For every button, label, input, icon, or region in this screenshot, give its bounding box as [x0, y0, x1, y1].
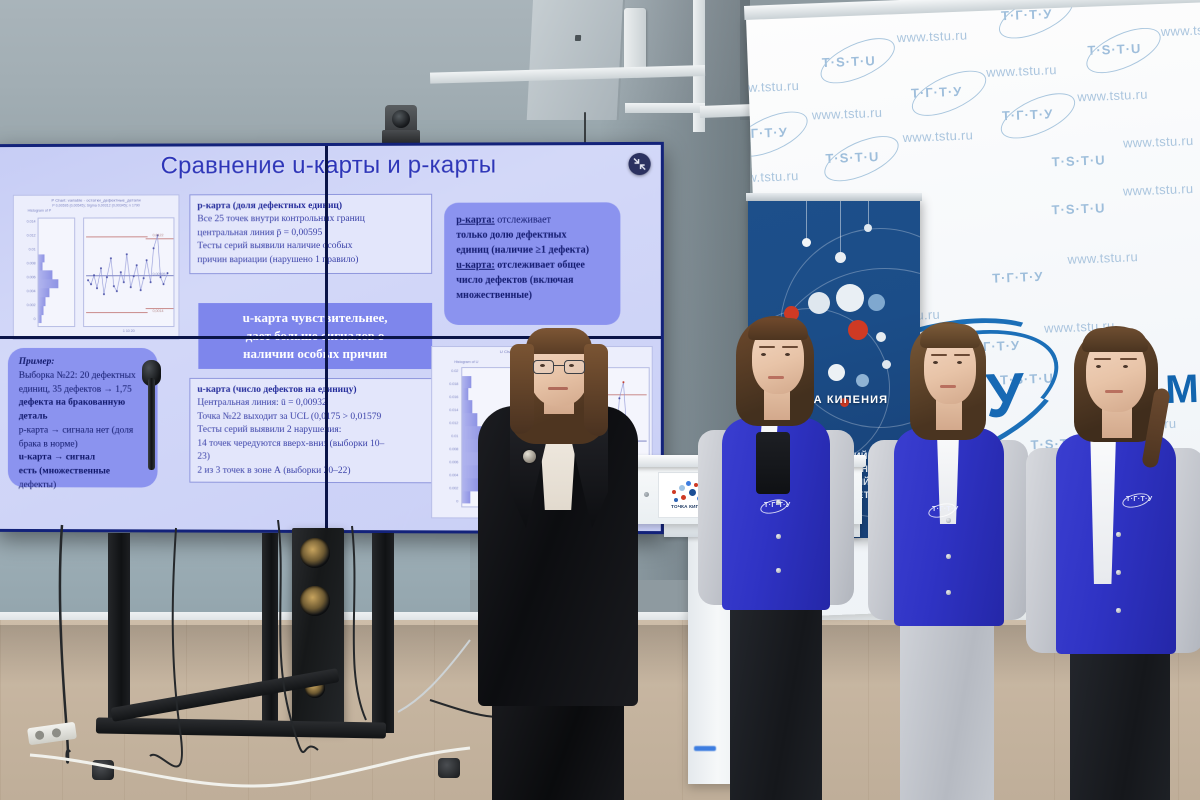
p-y-tick: 0.004	[14, 289, 36, 293]
p-y-tick: 0.008	[14, 261, 36, 265]
watermark-url: www.tstu.ru	[746, 168, 799, 186]
bubble	[864, 224, 872, 232]
student-3-mouth	[1105, 390, 1123, 393]
p-chart-textbox-line: Тесты серий выявили наличие особых	[197, 240, 424, 254]
example-callout-line: единиц, 35 дефектов → 1,75	[19, 383, 147, 397]
microphone-stem	[148, 378, 155, 470]
u-chart-textbox: u-карта (число дефектов на единицу) Цент…	[189, 378, 432, 483]
watermark-url: www.tstu.ru	[1161, 21, 1200, 39]
u-y-tick: 0.006	[432, 460, 458, 464]
example-callout-heading: Пример:	[19, 357, 55, 367]
example-callout-line: есть (множественные	[19, 465, 147, 479]
presenter-glasses-icon	[533, 360, 585, 374]
callout-uchart-text: отслеживает общее	[495, 260, 585, 271]
bubble-string	[806, 198, 807, 240]
watermark-logo: T·S·T·U	[1051, 152, 1105, 169]
u-y-tick: 0.01	[432, 434, 458, 438]
u-chart-textbox-line: 14 точек чередуются вверх-вниз (выборки …	[197, 438, 424, 452]
bubble-string	[840, 198, 841, 254]
u-chart-textbox-line: 2 из 3 точек в зоне А (выборки 20–22)	[197, 465, 424, 479]
watermark-url: www.tstu.ru	[811, 105, 882, 123]
u-y-tick: 0.02	[432, 369, 458, 373]
p-chart-subtitle: P 0,00595 (0,00545); Sigma 0,00312 (0,00…	[14, 203, 179, 207]
watermark-logo: T·S·T·U	[1051, 200, 1105, 217]
callout-pchart-text: отслеживает	[495, 215, 551, 226]
example-callout-line: брака в норме)	[19, 438, 147, 452]
watermark-url: www.tstu.ru	[902, 127, 973, 145]
student-2-eye	[957, 361, 962, 364]
example-callout-line: u-карта → сигнал	[19, 452, 147, 466]
p-y-tick: 0	[14, 317, 36, 321]
watermark-ellipse	[1080, 19, 1167, 83]
comparison-callout: p-карта: отслеживает только долю дефектн…	[444, 202, 620, 325]
callout-pchart-label: p-карта:	[456, 215, 494, 226]
exit-fullscreen-icon[interactable]	[628, 153, 650, 175]
watermark-url: www.tstu.ru	[897, 28, 968, 46]
p-y-tick: 0.006	[14, 275, 36, 279]
bubble	[802, 238, 811, 247]
watermark-url: www.tstu.ru	[1067, 249, 1138, 267]
p-chart-textbox-line: причин вариации (нарушено 1 правило)	[197, 254, 424, 268]
u-chart-textbox-line: Центральная линия: ū = 0,00932	[197, 397, 424, 411]
example-callout-line: дефекты)	[19, 479, 147, 493]
wall-panel	[527, 0, 626, 120]
p-chart-textbox: p-карта (доля дефектных единиц) Все 25 т…	[189, 194, 432, 274]
student-1-jacket-logo: Т·Г·Т·У	[764, 502, 791, 509]
u-chart-textbox-line: Тесты серий выявили 2 нарушения:	[197, 424, 424, 438]
callout-line: число дефектов (включая	[456, 275, 573, 286]
callout-uchart-label: u-карта:	[456, 260, 494, 271]
watermark-ellipse	[995, 84, 1082, 148]
p-chart-textbox-heading: p-карта (доля дефектных единиц)	[197, 201, 342, 211]
bubble	[835, 252, 846, 263]
p-histogram-panel	[38, 218, 76, 328]
watermark-url: www.tstu.ru	[1123, 133, 1194, 151]
example-callout-line: деталь	[19, 411, 147, 425]
u-y-tick: 0.014	[432, 408, 458, 412]
ptz-camera-icon	[382, 102, 420, 144]
student-1-hair-fringe	[748, 318, 808, 340]
bubble	[856, 374, 869, 387]
callout-line: множественные)	[456, 290, 532, 301]
presenter-hair-side	[510, 344, 534, 434]
student-1-eye	[761, 353, 766, 356]
u-chart-textbox-heading: u-карта (число дефектов на единицу)	[197, 385, 356, 395]
p-y-tick: 0.012	[14, 234, 36, 238]
u-chart-textbox-line: 23)	[197, 451, 424, 465]
student-3-person: Т·Г·Т·У	[1030, 318, 1200, 800]
student-1-inner-top	[756, 432, 790, 494]
presenter-mouth	[548, 387, 568, 390]
watermark-ellipse	[814, 29, 901, 93]
watermark-url: www.tstu.ru	[1077, 87, 1148, 105]
presenter-brooch	[523, 450, 536, 463]
u-y-tick: 0.018	[432, 382, 458, 386]
student-2-jacket-logo: Т·Г·Т·У	[932, 506, 959, 513]
presenter-person	[470, 310, 650, 800]
p-chart: P Chart: variable - остатки_дефектные_де…	[13, 194, 180, 340]
wall-speaker-icon	[624, 8, 646, 70]
u-y-tick: 0.016	[432, 395, 458, 399]
student-1-trousers	[730, 610, 822, 800]
student-2-trousers	[900, 618, 994, 800]
p-y-tick: 0.002	[14, 303, 36, 307]
p-y-tick: 0.014	[14, 220, 36, 224]
bubble-string	[868, 198, 869, 226]
u-y-tick: 0.004	[432, 473, 458, 477]
highlight-banner-line: u-карта чувствительнее,	[208, 309, 422, 327]
bubble	[868, 294, 885, 311]
presenter-eye	[569, 364, 574, 367]
u-chart-textbox-line: Точка №22 выходит за UCL (0,0175 > 0,015…	[197, 411, 424, 425]
student-3-hair-fringe	[1082, 328, 1148, 352]
example-callout-line: дефекта на бракованную	[19, 397, 147, 411]
student-2-hair-fringe	[920, 324, 980, 348]
example-callout-line: p-карта → сигнала нет (доля	[19, 424, 147, 438]
student-3-eye	[1096, 365, 1101, 368]
p-chart-textbox-line: Все 25 точек внутри контрольных границ	[197, 213, 424, 227]
u-y-tick: 0.002	[432, 486, 458, 490]
p-y-tick: 0.01	[14, 247, 36, 251]
watermark-logo: Т·Г·Т·У	[992, 269, 1044, 286]
callout-line: единиц (наличие ≥1 дефекта)	[456, 245, 589, 256]
student-1-eye	[785, 353, 790, 356]
student-1-mouth	[768, 376, 784, 379]
student-3-jacket	[1056, 434, 1176, 654]
p-chart-textbox-line: центральная линия p̄ = 0,00595	[197, 227, 424, 241]
student-1-person: Т·Г·Т·У	[700, 310, 850, 800]
p-chart-hist-title: Histogram of P	[14, 208, 179, 212]
u-y-tick: 0.012	[432, 421, 458, 425]
watermark-url: www.tstu.ru	[986, 62, 1057, 80]
presenter-hair-side	[584, 344, 608, 436]
slide-title: Сравнение u-карты и p-карты	[0, 151, 661, 181]
student-2-eye	[933, 361, 938, 364]
bubble	[836, 284, 864, 312]
u-y-tick: 0.008	[432, 447, 458, 451]
bubble	[848, 320, 868, 340]
student-2-person: Т·Г·Т·У	[872, 318, 1022, 800]
student-2-mouth	[940, 385, 956, 388]
u-y-tick: 0	[432, 499, 458, 503]
student-3-jacket-logo: Т·Г·Т·У	[1126, 496, 1153, 503]
rollup-banner-top-rail	[746, 193, 922, 201]
watermark-ellipse	[906, 61, 993, 125]
watermark-ellipse	[818, 127, 905, 191]
presenter-eye	[540, 364, 545, 367]
watermark-url: www.tstu.ru	[746, 78, 799, 96]
watermark-ellipse	[746, 102, 814, 166]
callout-line: только долю дефектных	[456, 230, 566, 241]
student-3-trousers	[1070, 648, 1170, 800]
example-callout-line: Выборка №22: 20 дефектных	[19, 370, 147, 384]
presenter-hair-fringe	[526, 328, 592, 354]
watermark-url: www.tstu.ru	[1123, 181, 1194, 199]
example-callout: Пример: Выборка №22: 20 дефектных единиц…	[8, 348, 158, 488]
student-3-eye	[1123, 365, 1128, 368]
wall-trim-segment	[625, 103, 705, 113]
highlight-banner-line: наличии особых причин	[208, 345, 422, 363]
conference-room-photo: www.tstu.ru T·S·T·U www.tstu.ru Т·Г·Т·У …	[0, 0, 1200, 800]
